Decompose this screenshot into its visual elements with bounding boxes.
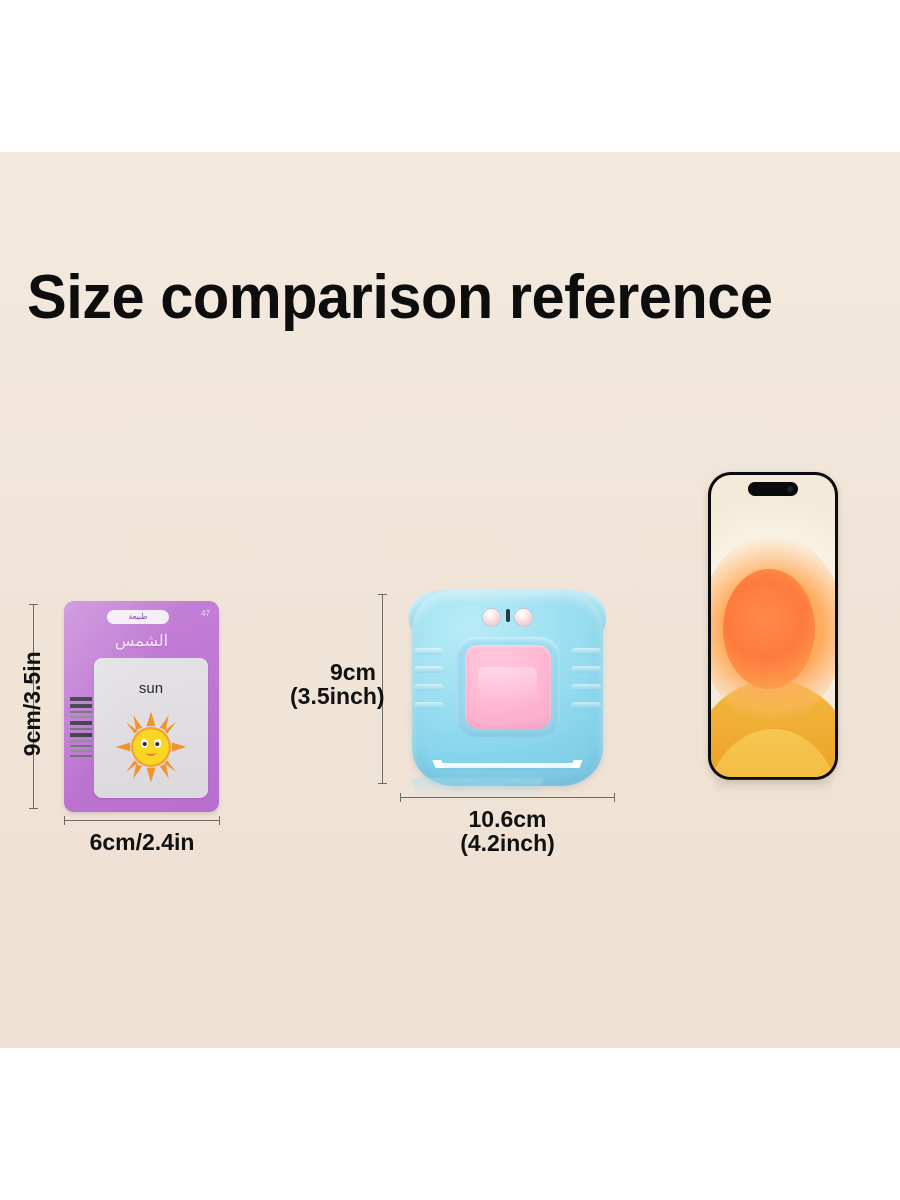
phone-screen — [711, 475, 835, 777]
device-screen-bezel — [456, 637, 560, 737]
whisker-right-3 — [571, 684, 601, 691]
device-height-label-inch: (3.5inch) — [290, 684, 376, 708]
flashcard-group: 9cm/3.5in طبيعة 47 الشمس sun — [16, 592, 246, 837]
smartphone — [708, 472, 838, 780]
flashcard-inner-panel: sun — [94, 658, 208, 798]
flashcard-width-label: 6cm/2.4in — [64, 830, 220, 854]
device-width-label-inch: (4.2inch) — [400, 831, 615, 855]
content-panel: Size comparison reference 9cm/3.5in طبيع… — [0, 152, 900, 1048]
flashcard-number: 47 — [201, 610, 210, 618]
whisker-left-4 — [414, 702, 444, 709]
flashcard-category-pill: طبيعة — [107, 610, 169, 624]
front-camera-icon — [787, 486, 793, 492]
flashcard-height-label: 9cm/3.5in — [20, 660, 44, 756]
device-height-label: 9cm (3.5inch) — [290, 660, 376, 709]
flashcard-english-word: sun — [94, 680, 208, 697]
cat-card-reader — [400, 590, 615, 786]
dynamic-island — [748, 482, 798, 496]
device-width-label-cm: 10.6cm — [400, 807, 615, 831]
device-width-line — [400, 797, 615, 798]
device-button-left[interactable] — [482, 608, 501, 627]
screen-highlight — [478, 667, 536, 706]
page-title: Size comparison reference — [27, 267, 843, 329]
phone-group — [700, 470, 850, 800]
wallpaper-ring-inner — [723, 569, 815, 690]
sun-icon — [114, 710, 188, 784]
whisker-right-2 — [571, 666, 601, 673]
flashcard-arabic-word: الشمس — [64, 631, 219, 651]
device-body — [412, 590, 603, 786]
whisker-left-2 — [414, 666, 444, 673]
phone-reflection — [714, 780, 832, 802]
device-button-right[interactable] — [514, 608, 533, 627]
flashcard-width-line — [64, 820, 220, 821]
flashcard-barcode-strip — [70, 697, 92, 795]
device-screen — [465, 645, 551, 729]
microphone-slot — [506, 609, 510, 622]
flashcard: طبيعة 47 الشمس sun — [64, 601, 219, 812]
device-width-label: 10.6cm (4.2inch) — [400, 807, 615, 856]
whisker-right-1 — [571, 648, 601, 655]
whisker-right-4 — [571, 702, 601, 709]
device-height-label-cm: 9cm — [290, 660, 376, 684]
whisker-left-1 — [414, 648, 444, 655]
device-card-slot — [438, 763, 577, 768]
device-reflection — [412, 778, 543, 804]
device-group: 9cm (3.5inch) — [370, 582, 640, 872]
whisker-left-3 — [414, 684, 444, 691]
